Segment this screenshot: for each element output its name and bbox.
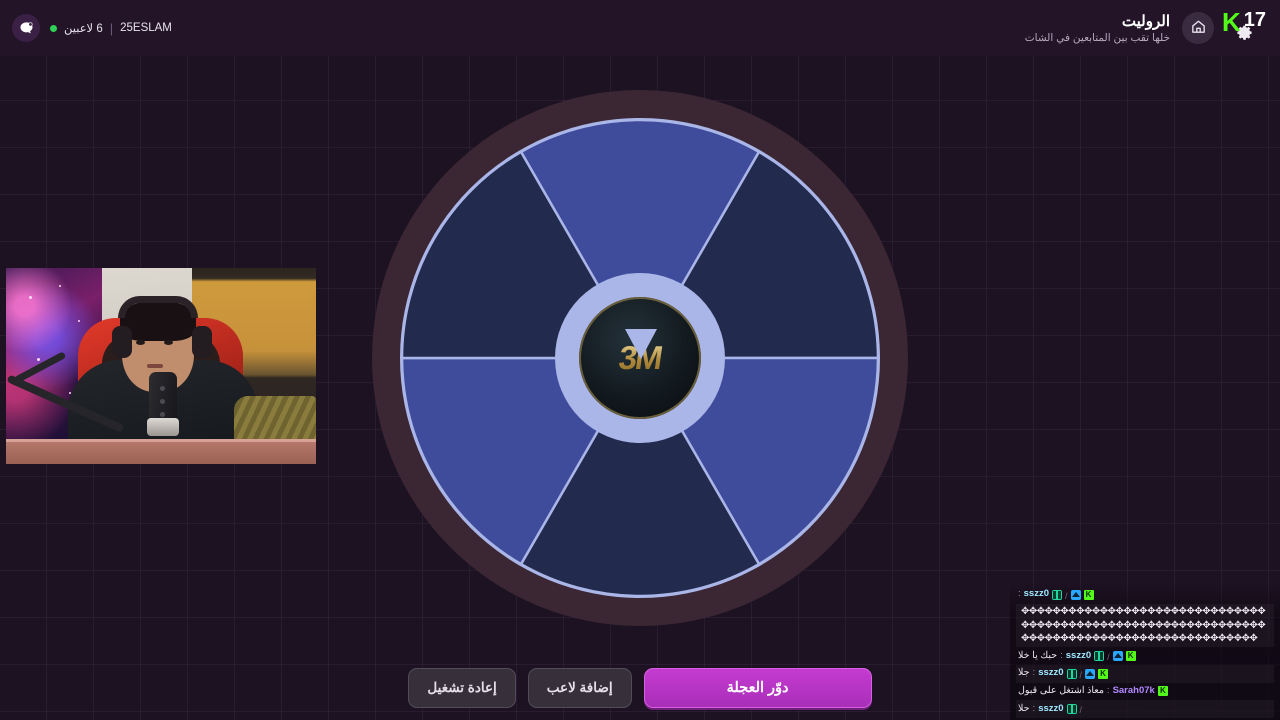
chat-line: K/sszz0: <box>1016 586 1274 604</box>
chat-badge-mod-icon <box>1052 590 1062 600</box>
page-subtitle: خلها تقب بين المتابعين في الشات <box>1025 32 1170 44</box>
chat-badge-sub-icon <box>1113 651 1123 661</box>
roulette-app: 25ESLAM | 6 لاعبين الروليت خلها تقب بين … <box>0 0 1280 720</box>
header-left-group: 25ESLAM | 6 لاعبين <box>12 14 172 42</box>
chat-message: حبك يا خلا <box>1018 649 1057 664</box>
chat-username[interactable]: sszz0 <box>1038 702 1063 717</box>
spin-wheel-button[interactable]: دوّر العجلة <box>644 668 872 708</box>
chat-line: KSarah07k:معاذ اشتغل على قبول <box>1016 683 1274 701</box>
headphone-cup-left <box>112 326 132 358</box>
webcam-eye-right <box>164 340 173 345</box>
chat-username[interactable]: sszz0 <box>1024 587 1049 602</box>
chat-username[interactable]: sszz0 <box>1066 649 1091 664</box>
mic-button-mid <box>160 399 165 404</box>
page-title: الروليت <box>1025 12 1170 30</box>
chat-colon: : <box>1107 684 1110 699</box>
chat-message: حلا <box>1018 702 1030 717</box>
chat-badge-kick-icon: K <box>1098 669 1108 679</box>
webcam-desk <box>6 442 316 464</box>
mic-button-top <box>160 386 165 391</box>
add-player-button[interactable]: إضافة لاعب <box>528 668 632 708</box>
player-count-label: 6 لاعبين <box>64 21 103 35</box>
webcam-mouth <box>147 364 163 368</box>
chat-spam-message: ✥✥✥✥✥✥✥✥✥✥✥✥✥✥✥✥✥✥✥✥✥✥✥✥✥✥✥✥✥✥✥✥✥✥✥✥✥✥✥✥… <box>1018 605 1272 646</box>
chat-colon: : <box>1033 702 1036 717</box>
chat-line: K/sszz0:حبك يا خلا <box>1016 647 1274 665</box>
chat-badge-kick-icon: K <box>1158 686 1168 696</box>
chat-colon: : <box>1033 666 1036 681</box>
chat-overlay[interactable]: K/sszz0:✥✥✥✥✥✥✥✥✥✥✥✥✥✥✥✥✥✥✥✥✥✥✥✥✥✥✥✥✥✥✥✥… <box>1010 582 1280 720</box>
page-title-block: الروليت خلها تقب بين المتابعين في الشات <box>1025 12 1170 44</box>
microphone-base <box>147 418 179 436</box>
channel-name-label: 25ESLAM <box>120 22 172 34</box>
header-right-group: الروليت خلها تقب بين المتابعين في الشات … <box>1025 8 1266 48</box>
chat-badge-mod-icon <box>1094 651 1104 661</box>
chat-username[interactable]: sszz0 <box>1038 666 1063 681</box>
chat-username[interactable]: Sarah07k <box>1113 684 1155 699</box>
badge-separator-icon: / <box>1107 651 1110 661</box>
chat-colon: : <box>1018 587 1021 602</box>
chat-colon: : <box>1060 649 1063 664</box>
headphone-cup-right <box>192 326 212 358</box>
webcam-eye-left <box>136 340 145 345</box>
kick-viewer-widget[interactable]: K 17 <box>1222 8 1266 48</box>
chat-bubble-icon <box>12 14 40 42</box>
chat-badge-kick-icon: K <box>1084 590 1094 600</box>
chat-line: ✥✥✥✥✥✥✥✥✥✥✥✥✥✥✥✥✥✥✥✥✥✥✥✥✥✥✥✥✥✥✥✥✥✥✥✥✥✥✥✥… <box>1016 604 1274 648</box>
chat-line: K/sszz0:جلا <box>1016 665 1274 683</box>
badge-separator-icon: / <box>1065 590 1068 600</box>
home-button[interactable] <box>1182 12 1214 44</box>
headphones-icon <box>118 296 198 318</box>
pointer-triangle-icon <box>625 329 657 359</box>
badge-separator-icon: / <box>1080 669 1083 679</box>
gear-icon[interactable] <box>1235 24 1254 48</box>
app-header: 25ESLAM | 6 لاعبين الروليت خلها تقب بين … <box>0 0 1280 56</box>
live-status-dot <box>50 25 57 32</box>
channel-meta: 25ESLAM | 6 لاعبين <box>50 21 172 36</box>
chat-badge-sub-icon <box>1085 669 1095 679</box>
restart-button[interactable]: إعادة تشغيل <box>408 668 515 708</box>
badge-separator-icon: / <box>1080 704 1083 714</box>
roulette-wheel[interactable]: 25ESLAM - 6sszz0 - 83m702 - 13MARING - 2… <box>370 88 910 628</box>
chat-message: جلا <box>1018 666 1030 681</box>
chat-message: معاذ اشتغل على قبول <box>1018 684 1104 699</box>
chat-badge-sub-icon <box>1071 590 1081 600</box>
streamer-webcam-overlay <box>6 268 316 464</box>
home-icon <box>1190 18 1207 38</box>
chat-badge-mod-icon <box>1067 669 1077 679</box>
chat-badge-mod-icon <box>1067 704 1077 714</box>
chat-badge-kick-icon: K <box>1126 651 1136 661</box>
chat-line: /sszz0:حلا <box>1016 700 1274 718</box>
meta-separator: | <box>110 21 113 36</box>
mic-button-bottom <box>160 412 165 417</box>
